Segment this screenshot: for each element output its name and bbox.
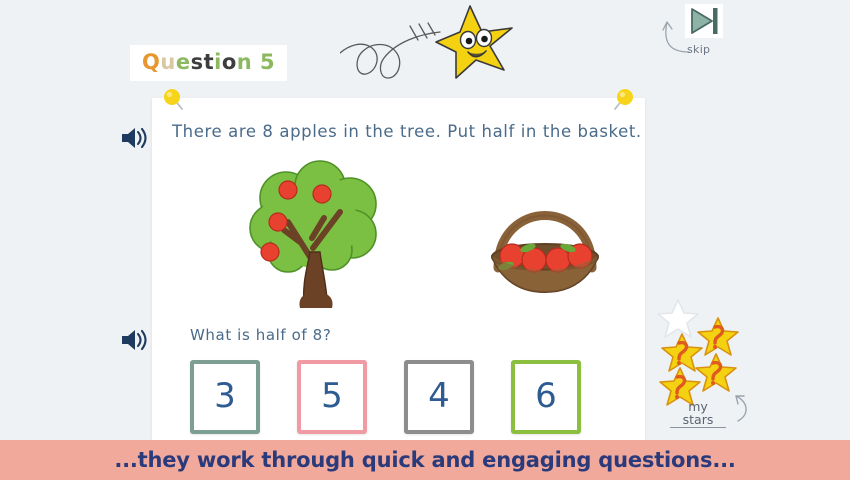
skip-control[interactable]: skip [655, 2, 770, 64]
prompt-text: There are 8 apples in the tree. Put half… [172, 122, 642, 141]
question-badge-letter: i [214, 50, 222, 74]
question-badge-letter: s [191, 50, 204, 74]
caption-bar: ...they work through quick and engaging … [0, 440, 850, 480]
apple-tree-illustration [240, 160, 390, 308]
my-stars-label: my stars [670, 400, 726, 428]
question-badge-letter: Q [142, 50, 160, 74]
sub-question-text: What is half of 8? [190, 326, 331, 344]
question-badge-letter [252, 50, 260, 74]
answer-value: 3 [214, 379, 236, 416]
answer-option-6[interactable]: 6 [511, 360, 581, 434]
question-badge-letter: o [222, 50, 237, 74]
push-pin-icon-right [607, 86, 637, 116]
answer-option-5[interactable]: 5 [297, 360, 367, 434]
question-badge-letter: 5 [260, 50, 275, 74]
star-empty [658, 300, 698, 337]
answer-value: 4 [428, 379, 450, 416]
answer-options: 3546 [190, 360, 620, 434]
my-stars-label-line2: stars [670, 413, 726, 426]
push-pin-icon-left [160, 86, 190, 116]
question-badge-letter: t [204, 50, 215, 74]
my-stars-panel[interactable]: my stars [652, 296, 777, 436]
answer-value: 5 [321, 379, 343, 416]
answer-option-4[interactable]: 4 [404, 360, 474, 434]
skip-button[interactable] [685, 4, 723, 38]
apple-basket-illustration [484, 172, 606, 297]
speaker-icon-prompt[interactable] [118, 123, 152, 153]
answer-option-3[interactable]: 3 [190, 360, 260, 434]
skip-label: skip [687, 43, 710, 56]
question-card: There are 8 apples in the tree. Put half… [152, 98, 645, 440]
answer-value: 6 [535, 379, 557, 416]
question-badge-letter: u [160, 50, 175, 74]
question-badge: Question 5 [130, 45, 287, 81]
speaker-icon-sub-question[interactable] [118, 325, 152, 355]
caption-text: ...they work through quick and engaging … [114, 448, 735, 472]
question-badge-letter: n [237, 50, 252, 74]
star-mascot [340, 0, 530, 90]
question-badge-letter: e [176, 50, 191, 74]
